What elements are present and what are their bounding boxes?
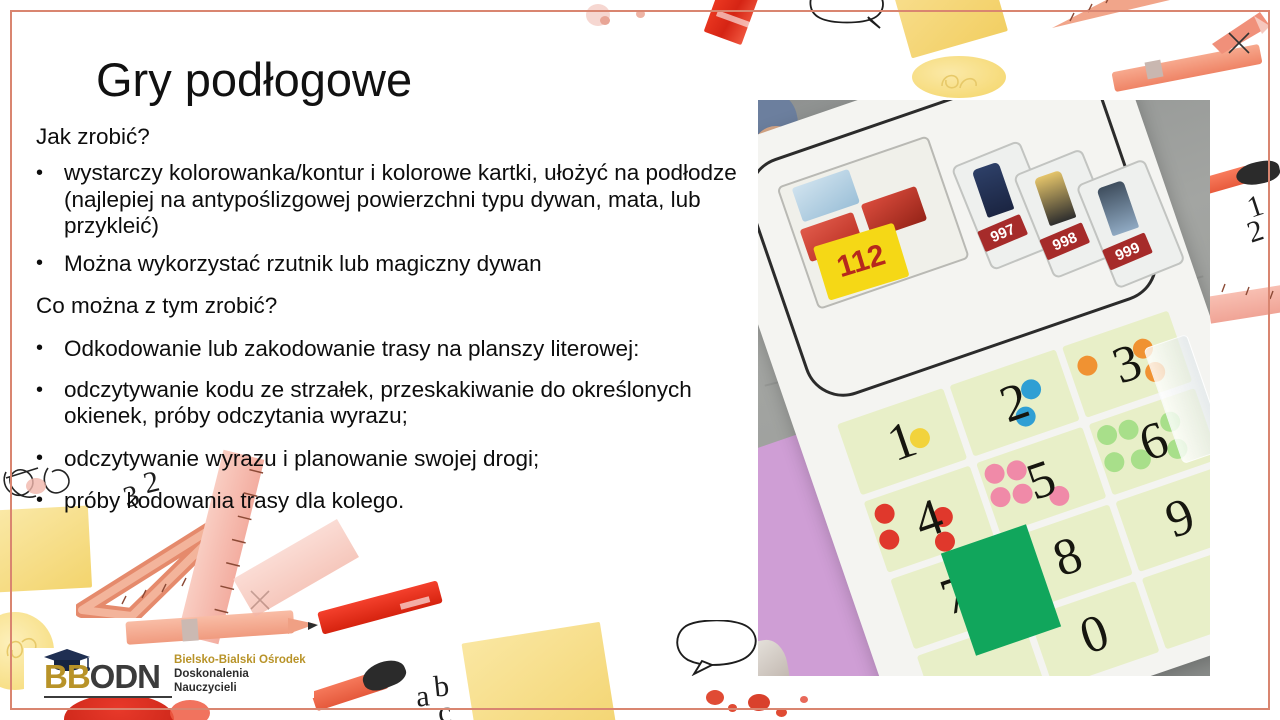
bullet-glyph: • [36, 487, 64, 514]
list-item-text: Można wykorzystać rzutnik lub magiczny d… [64, 250, 742, 277]
body-text-block: Jak zrobić? • wystarczy kolorowanka/kont… [36, 122, 742, 525]
bbodn-logo: BBODN Bielsko-Bialski Ośrodek Doskonalen… [24, 648, 314, 698]
list-item-text: wystarczy kolorowanka/kontur i kolorowe … [64, 160, 742, 239]
bullet-glyph: • [36, 160, 64, 239]
logo-subtitle-line1: Bielsko-Bialski Ośrodek [174, 654, 306, 666]
list-item: • odczytywanie wyrazu i planowanie swoje… [36, 445, 742, 472]
logo-subtitle: Bielsko-Bialski Ośrodek Doskonalenia Nau… [174, 653, 314, 695]
logo-wordmark: BBODN [44, 660, 160, 693]
page-title: Gry podłogowe [96, 52, 412, 107]
logo-subtitle-line2: Doskonalenia Nauczycieli [174, 668, 249, 694]
bullet-glyph: • [36, 377, 64, 430]
list-item-text: Odkodowanie lub zakodowanie trasy na pla… [64, 335, 742, 362]
logo-underline [44, 696, 172, 698]
list-item-text: odczytywanie wyrazu i planowanie swojej … [64, 445, 742, 472]
bullet-glyph: • [36, 335, 64, 362]
list-item: • wystarczy kolorowanka/kontur i kolorow… [36, 160, 742, 239]
logo-bb-text: BB [44, 658, 90, 695]
bullet-glyph: • [36, 445, 64, 472]
list-item: • Można wykorzystać rzutnik lub magiczny… [36, 250, 742, 277]
bullet-glyph: • [36, 250, 64, 277]
list-item-text: próby kodowania trasy dla kolego. [64, 487, 742, 514]
list-item: • Odkodowanie lub zakodowanie trasy na p… [36, 335, 742, 362]
slide: 1 2 3 2 [0, 0, 1280, 720]
logo-odn-text: ODN [90, 658, 160, 695]
intro-question-1: Jak zrobić? [36, 122, 742, 151]
list-item: • odczytywanie kodu ze strzałek, przeska… [36, 377, 742, 430]
list-item: • próby kodowania trasy dla kolego. [36, 487, 742, 514]
intro-question-2: Co można z tym zrobić? [36, 291, 742, 320]
slide-content: Gry podłogowe Jak zrobić? • wystarczy ko… [0, 0, 1280, 720]
list-item-text: odczytywanie kodu ze strzałek, przeskaki… [64, 377, 742, 430]
